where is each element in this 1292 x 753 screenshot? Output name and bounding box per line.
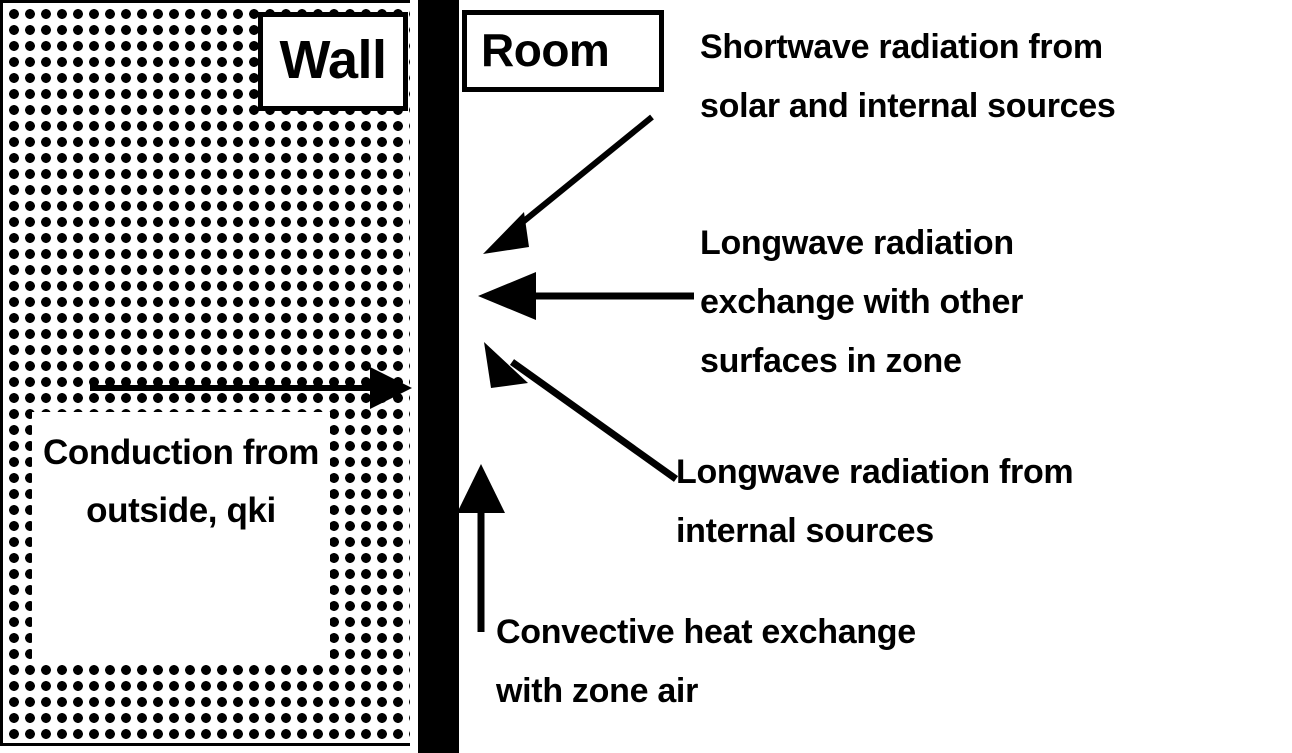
shortwave-radiation-label: Shortwave radiation from solar and inter… — [700, 18, 1292, 136]
wall-label-text: Wall — [279, 33, 386, 91]
longwave-exchange-label: Longwave radiation exchange with other s… — [700, 214, 1220, 391]
wall-label-box: Wall — [258, 12, 408, 111]
convective-heat-label: Convective heat exchange with zone air — [496, 603, 1156, 721]
longwave-internal-label: Longwave radiation from internal sources — [676, 443, 1276, 561]
longwave-internal-arrow-icon — [484, 342, 676, 479]
room-label-box: Room — [462, 10, 664, 92]
room-label-text: Room — [467, 27, 609, 76]
conduction-label: Conduction from outside, qki — [32, 424, 330, 540]
longwave-exchange-arrow-icon — [478, 272, 694, 320]
diagram-canvas: Conduction from outside, qki Wall Room S… — [0, 0, 1292, 753]
wall-inner-surface — [418, 0, 459, 753]
shortwave-arrow-icon — [483, 117, 652, 254]
